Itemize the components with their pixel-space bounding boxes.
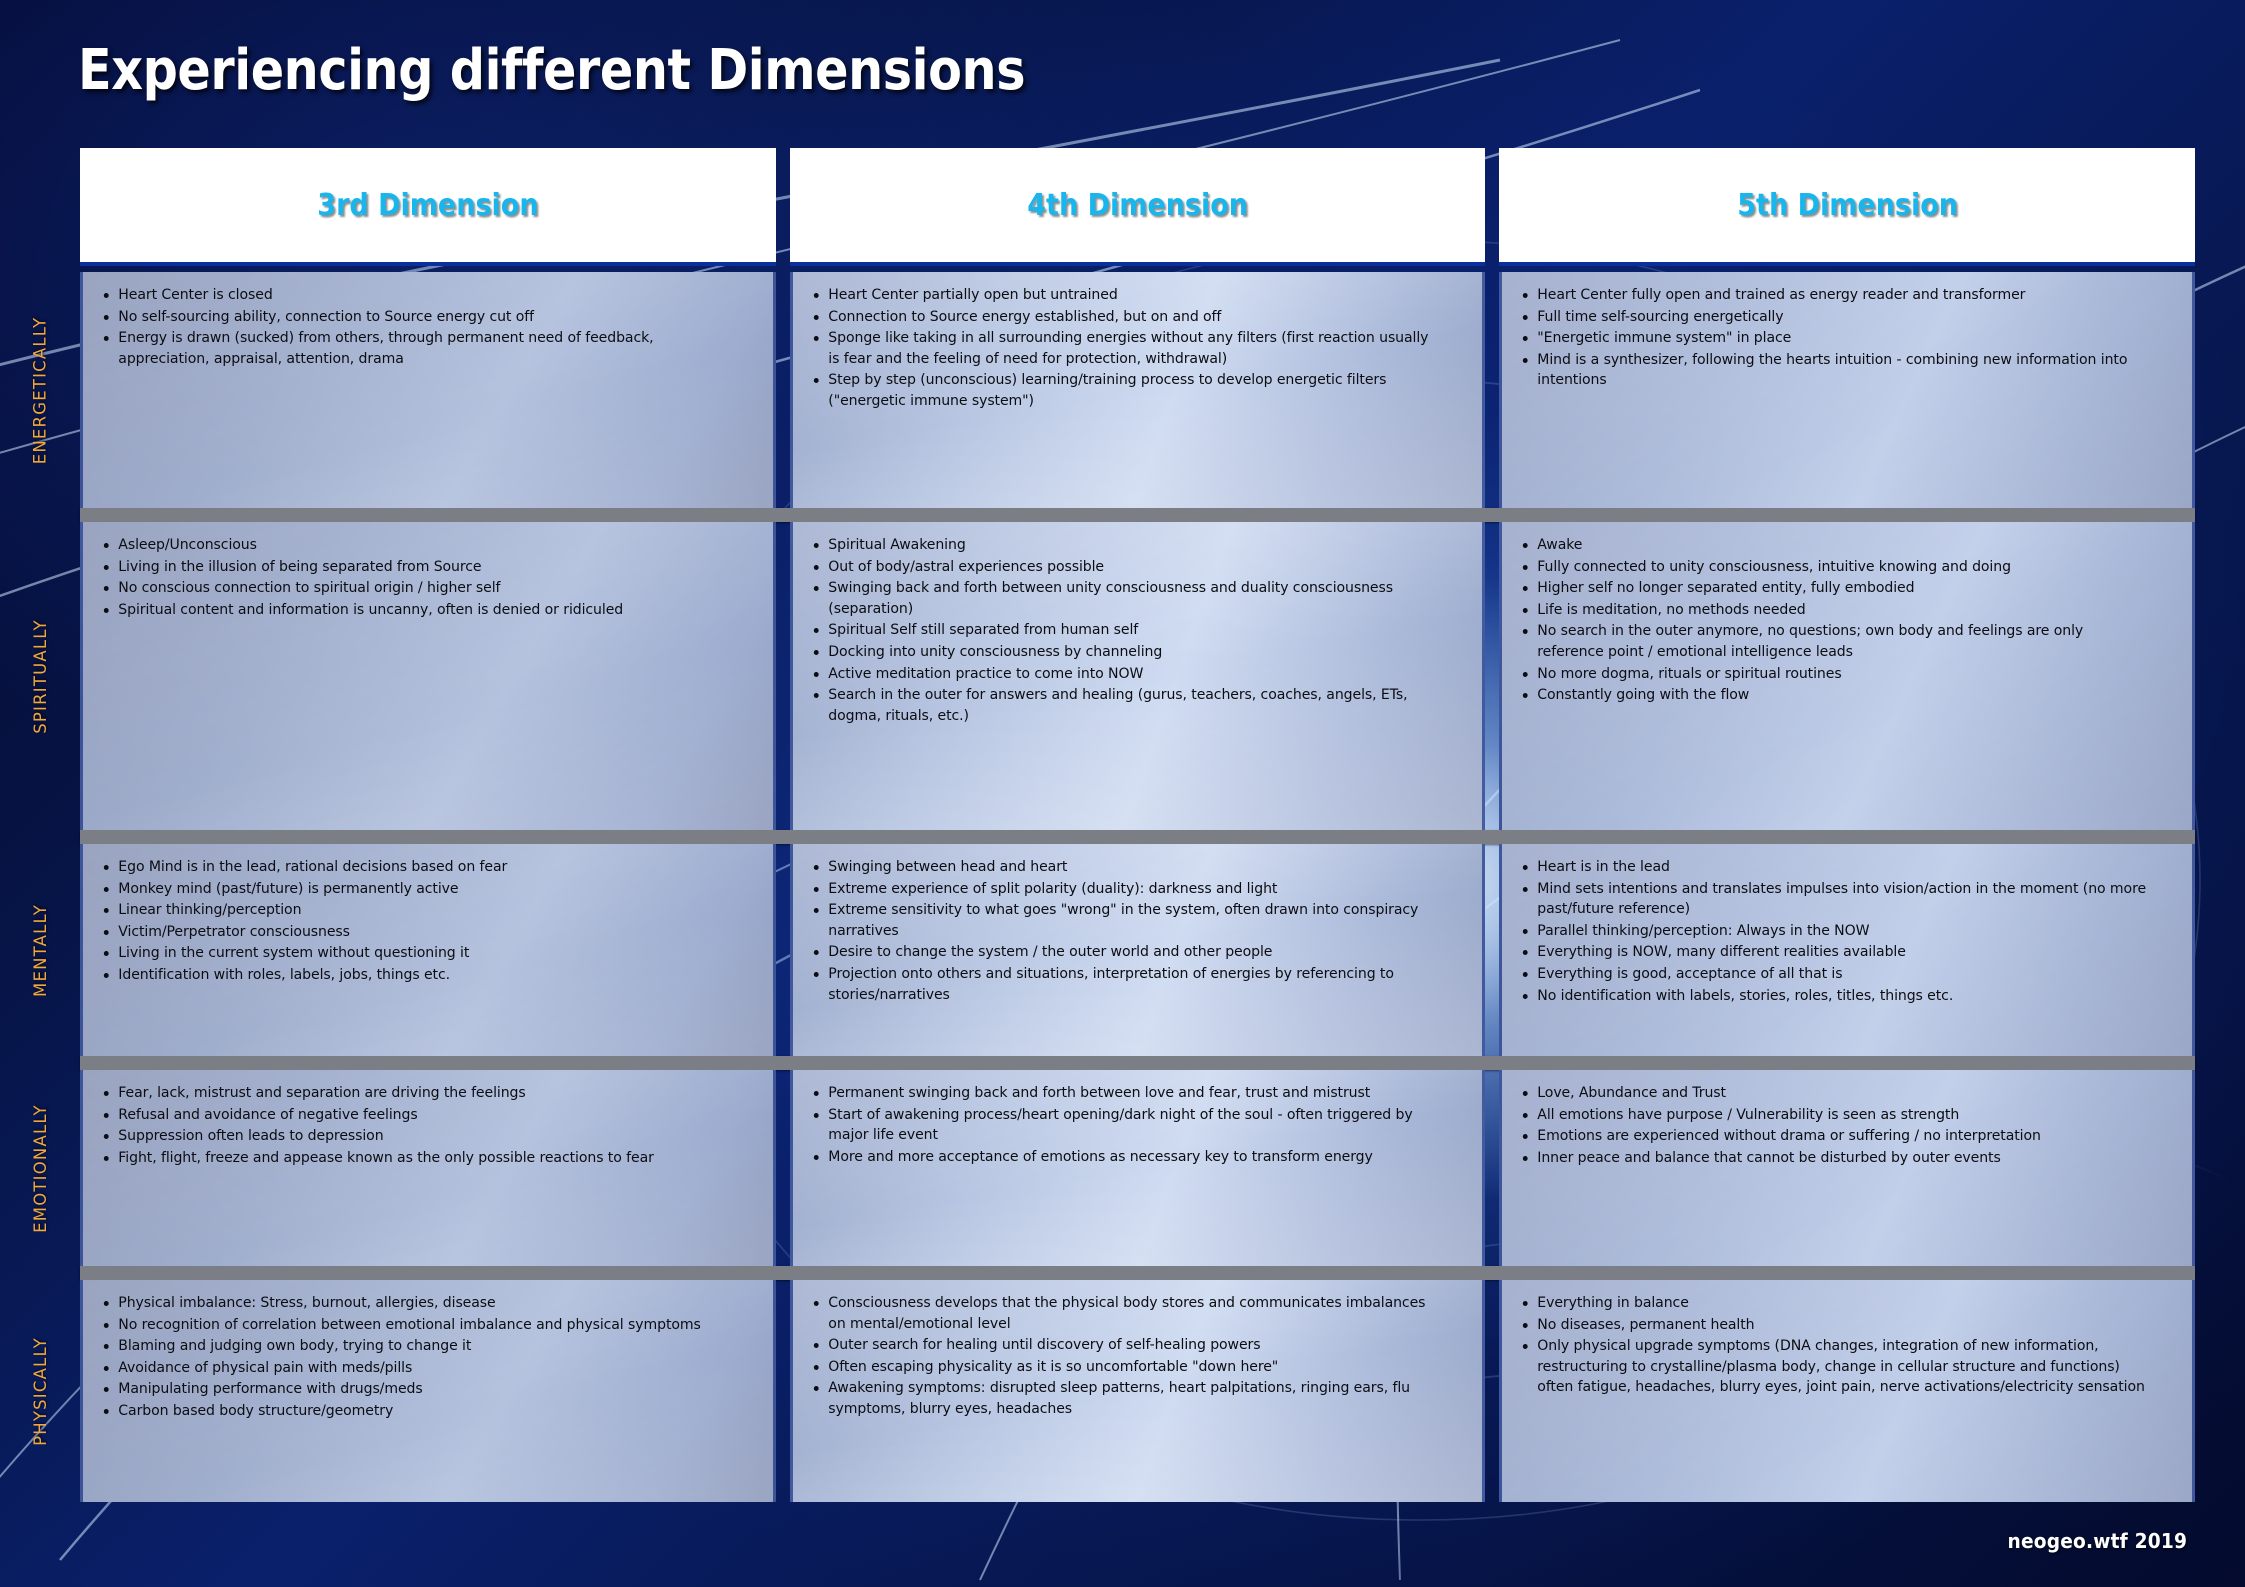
cell-energetically-3rd: Heart Center is closedNo self-sourcing a… xyxy=(80,272,776,508)
row-divider-1 xyxy=(80,508,2195,522)
bullet-item: Heart is in the lead xyxy=(1518,857,2153,878)
cell-mentally-3rd: Ego Mind is in the lead, rational decisi… xyxy=(80,844,776,1056)
bullet-list: Love, Abundance and TrustAll emotions ha… xyxy=(1518,1083,2176,1168)
bullet-item: Connection to Source energy established,… xyxy=(809,307,1444,328)
bullet-item: No conscious connection to spiritual ori… xyxy=(99,578,734,599)
bullet-item: Ego Mind is in the lead, rational decisi… xyxy=(99,857,734,878)
cell-physically-4th: Consciousness develops that the physical… xyxy=(790,1280,1486,1502)
bullet-item: Permanent swinging back and forth betwee… xyxy=(809,1083,1444,1104)
bullet-item: Heart Center fully open and trained as e… xyxy=(1518,285,2153,306)
bullet-item: Linear thinking/perception xyxy=(99,900,734,921)
cell-emotionally-5th: Love, Abundance and TrustAll emotions ha… xyxy=(1499,1070,2195,1266)
bullet-item: Out of body/astral experiences possible xyxy=(809,557,1444,578)
bullet-item: No diseases, permanent health xyxy=(1518,1315,2153,1336)
cell-physically-5th: Everything in balanceNo diseases, perman… xyxy=(1499,1280,2195,1502)
row-label-mentally: MENTALLY xyxy=(0,844,80,1056)
bullet-item: Constantly going with the flow xyxy=(1518,685,2153,706)
bullet-item: Monkey mind (past/future) is permanently… xyxy=(99,879,734,900)
cell-energetically-4th: Heart Center partially open but untraine… xyxy=(790,272,1486,508)
bullet-list: Physical imbalance: Stress, burnout, all… xyxy=(99,1293,757,1422)
bullet-item: Fear, lack, mistrust and separation are … xyxy=(99,1083,734,1104)
bullet-item: Heart Center is closed xyxy=(99,285,734,306)
bullet-item: More and more acceptance of emotions as … xyxy=(809,1147,1444,1168)
bullet-item: Spiritual Self still separated from huma… xyxy=(809,620,1444,641)
cell-emotionally-4th: Permanent swinging back and forth betwee… xyxy=(790,1070,1486,1266)
poster-canvas: Experiencing different Dimensions ENERGE… xyxy=(0,0,2245,1587)
bullet-item: Avoidance of physical pain with meds/pil… xyxy=(99,1358,734,1379)
bullet-item: No search in the outer anymore, no quest… xyxy=(1518,621,2153,662)
bullet-item: Identification with roles, labels, jobs,… xyxy=(99,965,734,986)
column-header-label: 3rd Dimension xyxy=(317,188,538,223)
bullet-list: Heart Center is closedNo self-sourcing a… xyxy=(99,285,757,369)
bullet-list: Heart Center fully open and trained as e… xyxy=(1518,285,2176,391)
bullet-item: Emotions are experienced without drama o… xyxy=(1518,1126,2153,1147)
bullet-item: Physical imbalance: Stress, burnout, all… xyxy=(99,1293,734,1314)
bullet-item: Spiritual Awakening xyxy=(809,535,1444,556)
bullet-list: Heart is in the leadMind sets intentions… xyxy=(1518,857,2176,1006)
row-label-spiritually: SPIRITUALLY xyxy=(0,522,80,830)
cell-energetically-5th: Heart Center fully open and trained as e… xyxy=(1499,272,2195,508)
bullet-item: "Energetic immune system" in place xyxy=(1518,328,2153,349)
page-title: Experiencing different Dimensions xyxy=(78,38,1025,103)
bullet-item: Love, Abundance and Trust xyxy=(1518,1083,2153,1104)
bullet-item: Search in the outer for answers and heal… xyxy=(809,685,1444,726)
bullet-list: Heart Center partially open but untraine… xyxy=(809,285,1467,412)
bullet-item: Docking into unity consciousness by chan… xyxy=(809,642,1444,663)
cell-spiritually-3rd: Asleep/UnconsciousLiving in the illusion… xyxy=(80,522,776,830)
row-divider-4 xyxy=(80,1266,2195,1280)
bullet-item: Sponge like taking in all surrounding en… xyxy=(809,328,1444,369)
bullet-item: Parallel thinking/perception: Always in … xyxy=(1518,921,2153,942)
bullet-item: Swinging back and forth between unity co… xyxy=(809,578,1444,619)
bullet-item: Blaming and judging own body, trying to … xyxy=(99,1336,734,1357)
bullet-list: Ego Mind is in the lead, rational decisi… xyxy=(99,857,757,986)
cell-emotionally-3rd: Fear, lack, mistrust and separation are … xyxy=(80,1070,776,1266)
bullet-list: Asleep/UnconsciousLiving in the illusion… xyxy=(99,535,757,620)
bullet-item: Everything in balance xyxy=(1518,1293,2153,1314)
bullet-item: Awakening symptoms: disrupted sleep patt… xyxy=(809,1378,1444,1419)
row-label-text: SPIRITUALLY xyxy=(31,619,50,734)
bullet-item: Suppression often leads to depression xyxy=(99,1126,734,1147)
row-label-text: MENTALLY xyxy=(31,904,50,997)
bullet-item: Victim/Perpetrator consciousness xyxy=(99,922,734,943)
bullet-item: Manipulating performance with drugs/meds xyxy=(99,1379,734,1400)
bullet-item: Mind is a synthesizer, following the hea… xyxy=(1518,350,2153,391)
bullet-item: Energy is drawn (sucked) from others, th… xyxy=(99,328,734,369)
bullet-item: Everything is NOW, many different realit… xyxy=(1518,942,2153,963)
cell-spiritually-4th: Spiritual AwakeningOut of body/astral ex… xyxy=(790,522,1486,830)
bullet-item: Projection onto others and situations, i… xyxy=(809,964,1444,1005)
dimension-comparison-table: 3rd Dimension 4th Dimension 5th Dimensio… xyxy=(80,148,2195,1478)
bullet-item: Start of awakening process/heart opening… xyxy=(809,1105,1444,1146)
bullet-item: Carbon based body structure/geometry xyxy=(99,1401,734,1422)
bullet-item: Only physical upgrade symptoms (DNA chan… xyxy=(1518,1336,2153,1398)
credit-text: neogeo.wtf 2019 xyxy=(2007,1529,2187,1553)
bullet-item: Often escaping physicality as it is so u… xyxy=(809,1357,1444,1378)
bullet-item: Extreme experience of split polarity (du… xyxy=(809,879,1444,900)
cell-mentally-4th: Swinging between head and heartExtreme e… xyxy=(790,844,1486,1056)
bullet-item: Fight, flight, freeze and appease known … xyxy=(99,1148,734,1169)
column-header-3rd-dimension: 3rd Dimension xyxy=(80,148,776,266)
column-header-label: 5th Dimension xyxy=(1737,188,1958,223)
bullet-item: Awake xyxy=(1518,535,2153,556)
cell-mentally-5th: Heart is in the leadMind sets intentions… xyxy=(1499,844,2195,1056)
bullet-item: Fully connected to unity consciousness, … xyxy=(1518,557,2153,578)
bullet-item: No more dogma, rituals or spiritual rout… xyxy=(1518,664,2153,685)
bullet-item: Higher self no longer separated entity, … xyxy=(1518,578,2153,599)
bullet-item: Refusal and avoidance of negative feelin… xyxy=(99,1105,734,1126)
column-header-label: 4th Dimension xyxy=(1027,188,1248,223)
row-label-emotionally: EMOTIONALLY xyxy=(0,1070,80,1266)
bullet-item: Outer search for healing until discovery… xyxy=(809,1335,1444,1356)
cell-physically-3rd: Physical imbalance: Stress, burnout, all… xyxy=(80,1280,776,1502)
bullet-list: Swinging between head and heartExtreme e… xyxy=(809,857,1467,1005)
bullet-list: Everything in balanceNo diseases, perman… xyxy=(1518,1293,2176,1398)
bullet-item: Everything is good, acceptance of all th… xyxy=(1518,964,2153,985)
row-label-text: PHYSICALLY xyxy=(31,1337,50,1446)
column-header-4th-dimension: 4th Dimension xyxy=(790,148,1486,266)
row-label-physically: PHYSICALLY xyxy=(0,1280,80,1502)
column-header-5th-dimension: 5th Dimension xyxy=(1499,148,2195,266)
bullet-item: Inner peace and balance that cannot be d… xyxy=(1518,1148,2153,1169)
row-divider-2 xyxy=(80,830,2195,844)
bullet-list: Permanent swinging back and forth betwee… xyxy=(809,1083,1467,1167)
bullet-list: Consciousness develops that the physical… xyxy=(809,1293,1467,1420)
bullet-item: No recognition of correlation between em… xyxy=(99,1315,734,1336)
row-label-energetically: ENERGETICALLY xyxy=(0,272,80,508)
bullet-item: Spiritual content and information is unc… xyxy=(99,600,734,621)
bullet-item: Extreme sensitivity to what goes "wrong"… xyxy=(809,900,1444,941)
bullet-item: Swinging between head and heart xyxy=(809,857,1444,878)
bullet-item: Desire to change the system / the outer … xyxy=(809,942,1444,963)
bullet-item: Living in the illusion of being separate… xyxy=(99,557,734,578)
bullet-item: Life is meditation, no methods needed xyxy=(1518,600,2153,621)
bullet-item: Consciousness develops that the physical… xyxy=(809,1293,1444,1334)
bullet-item: Step by step (unconscious) learning/trai… xyxy=(809,370,1444,411)
bullet-list: AwakeFully connected to unity consciousn… xyxy=(1518,535,2176,706)
bullet-item: Active meditation practice to come into … xyxy=(809,664,1444,685)
bullet-list: Fear, lack, mistrust and separation are … xyxy=(99,1083,757,1168)
bullet-item: No self-sourcing ability, connection to … xyxy=(99,307,734,328)
bullet-item: No identification with labels, stories, … xyxy=(1518,986,2153,1007)
cell-spiritually-5th: AwakeFully connected to unity consciousn… xyxy=(1499,522,2195,830)
bullet-list: Spiritual AwakeningOut of body/astral ex… xyxy=(809,535,1467,726)
bullet-item: Full time self-sourcing energetically xyxy=(1518,307,2153,328)
bullet-item: Mind sets intentions and translates impu… xyxy=(1518,879,2153,920)
bullet-item: Heart Center partially open but untraine… xyxy=(809,285,1444,306)
bullet-item: All emotions have purpose / Vulnerabilit… xyxy=(1518,1105,2153,1126)
row-label-text: ENERGETICALLY xyxy=(31,316,50,464)
bullet-item: Asleep/Unconscious xyxy=(99,535,734,556)
row-divider-3 xyxy=(80,1056,2195,1070)
bullet-item: Living in the current system without que… xyxy=(99,943,734,964)
row-label-text: EMOTIONALLY xyxy=(31,1104,50,1233)
